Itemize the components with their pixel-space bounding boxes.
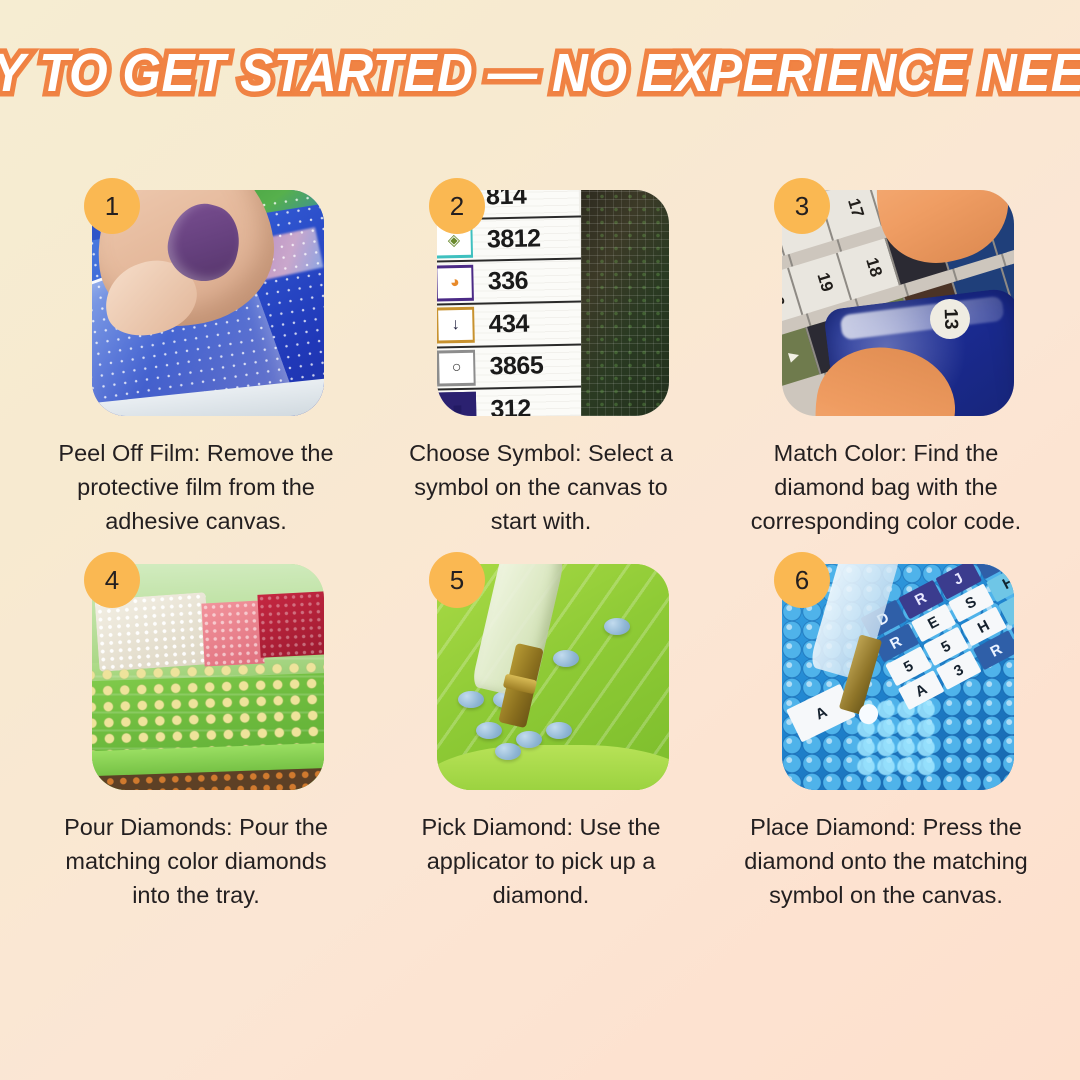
step-6-caption: Place Diamond: Press the diamond onto th… <box>742 810 1030 912</box>
steps-grid: 1 Peel Off Film: Remove the protective f… <box>52 178 1028 912</box>
step-card-2: 814 ◈ 3812 ◕ 336 <box>397 178 685 538</box>
step-3-thumbnail-holder: 10 36 ▲ 16 19 Y 17 18 <box>774 178 1014 416</box>
step-card-3: 10 36 ▲ 16 19 Y 17 18 <box>742 178 1030 538</box>
step-number-badge-6: 6 <box>774 552 830 608</box>
legend-code: 3865 <box>481 352 543 382</box>
legend-code: 336 <box>480 267 529 297</box>
step-5-thumbnail-holder: 5 <box>429 552 669 790</box>
legend-code: 3812 <box>479 224 541 254</box>
step-4-thumbnail-holder: 4 <box>84 552 324 790</box>
headline-banner: EASY TO GET STARTED — NO EXPERIENCE NEED… <box>0 34 1080 112</box>
legend-symbol: ■ <box>437 392 477 416</box>
step-4-caption: Pour Diamonds: Pour the matching color d… <box>52 810 340 912</box>
legend-code: 814 <box>478 190 527 212</box>
step-number-badge-3: 3 <box>774 178 830 234</box>
step-number-badge-5: 5 <box>429 552 485 608</box>
tray-wall <box>437 745 669 790</box>
step-card-5: 5 Pick Diamond: Use the applicator to pi… <box>397 552 685 912</box>
legend-code: 434 <box>480 309 529 339</box>
dark-canvas-area <box>581 190 669 416</box>
step-number-badge-2: 2 <box>429 178 485 234</box>
step-5-caption: Pick Diamond: Use the applicator to pick… <box>397 810 685 912</box>
step-6-thumbnail-holder: D R J R R E S H <box>774 552 1014 790</box>
pink-diamonds <box>202 601 266 667</box>
step-card-6: D R J R R E S H <box>742 552 1030 912</box>
step-3-caption: Match Color: Find the diamond bag with t… <box>742 436 1030 538</box>
legend-symbol: ↓ <box>437 307 475 344</box>
step-card-4: 4 Pour Diamonds: Pour the matching color… <box>52 552 340 912</box>
step-1-caption: Peel Off Film: Remove the protective fil… <box>52 436 340 538</box>
step-2-thumbnail-holder: 814 ◈ 3812 ◕ 336 <box>429 178 669 416</box>
red-diamonds <box>257 592 324 659</box>
legend-row: ◕ 336 <box>437 260 587 306</box>
step-2-caption: Choose Symbol: Select a symbol on the ca… <box>397 436 685 538</box>
page-title: EASY TO GET STARTED — NO EXPERIENCE NEED… <box>0 45 1080 101</box>
legend-code: 312 <box>482 394 531 416</box>
legend-symbol: ◕ <box>437 264 474 301</box>
step-number-badge-4: 4 <box>84 552 140 608</box>
step-card-1: 1 Peel Off Film: Remove the protective f… <box>52 178 340 538</box>
legend-row: ↓ 434 <box>437 302 587 348</box>
legend-row: ○ 3865 <box>437 345 588 391</box>
legend-symbol: ○ <box>437 349 476 386</box>
legend-row: ■ 312 <box>437 387 589 416</box>
step-number-badge-1: 1 <box>84 178 140 234</box>
step-1-thumbnail-holder: 1 <box>84 178 324 416</box>
instruction-poster: EASY TO GET STARTED — NO EXPERIENCE NEED… <box>0 0 1080 1080</box>
